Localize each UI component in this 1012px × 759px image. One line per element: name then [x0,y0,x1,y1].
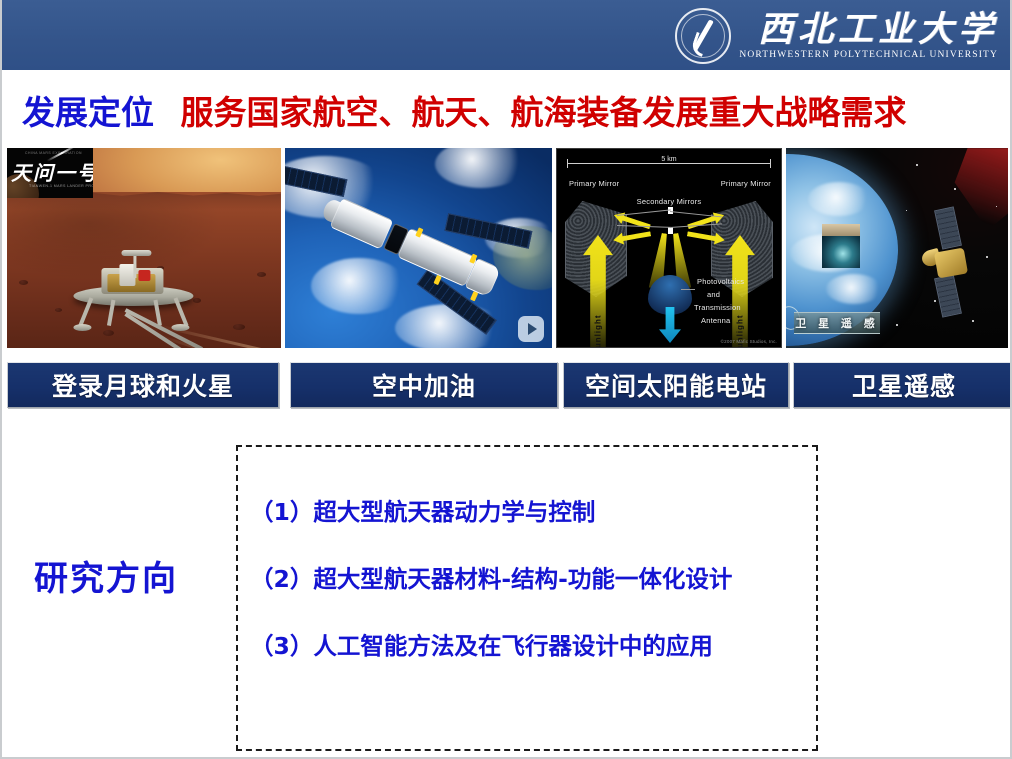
badge-sub-text: TIANWEN-1 MARS LANDER PROBE [29,184,93,188]
label-primary-mirror-left: Primary Mirror [569,179,619,188]
seal-wing-shape-2 [690,32,709,57]
diagram-copyright: ©2007 Mafic Studios, Inc. [721,339,777,344]
play-triangle [528,323,537,335]
station-marker [470,291,478,301]
caption-box-solar-power-station[interactable]: 空间太阳能电站 [563,362,789,408]
logo-text-block: 西北工业大学 NORTHWESTERN POLYTECHNICAL UNIVER… [739,12,998,61]
label-secondary-mirrors: Secondary Mirrors [637,197,702,206]
research-direction-item: （3）人工智能方法及在飞行器设计中的应用 [250,634,810,660]
caption-label: 登录月球和火星 [52,367,234,403]
caption-label: 空中加油 [372,367,476,403]
badge-chinese-text: 天问一号 [11,157,93,186]
play-video-icon[interactable] [518,316,544,342]
space-station-docking-photo[interactable] [285,148,552,348]
scale-bar [567,163,771,164]
label-transmission: Transmission [694,303,741,312]
caption-label: 空间太阳能电站 [585,367,767,403]
lander-foot [73,324,91,331]
mars-lander-craft [67,252,199,330]
header-banner: 西北工业大学 NORTHWESTERN POLYTECHNICAL UNIVER… [2,0,1012,73]
star [972,320,974,322]
remote-sensing-overlay-label: 卫 星 遥 感 [794,312,880,334]
label-sunlight-left: Sunlight [594,315,603,349]
logo-english-name: NORTHWESTERN POLYTECHNICAL UNIVERSITY [739,51,998,61]
mars-rock [257,272,266,277]
cloud [826,274,882,304]
label-primary-mirror-right: Primary Mirror [721,179,771,188]
secondary-mirror [668,227,673,234]
mars-lander-photo[interactable]: CHINA MARS EXPLORATION 天问一号 TIANWEN-1 MA… [7,148,281,348]
label-photovoltaics: Photovoltaics [697,277,744,286]
star [906,210,907,211]
badge-top-text: CHINA MARS EXPLORATION [25,151,82,155]
caption-row: 登录月球和火星 空中加油 空间太阳能电站 卫星遥感 [7,362,1009,410]
title-keyword: 发展定位 [22,96,154,129]
label-antenna: Antenna [701,316,730,325]
research-direction-item: （2）超大型航天器材料-结构-功能一体化设计 [250,567,810,593]
star [986,256,988,258]
lander-foot [171,324,189,331]
caption-label: 卫星遥感 [852,367,956,403]
satellite-solar-panel [934,206,962,249]
nwpu-seal-icon [675,8,731,64]
logo-chinese-name: 西北工业大学 [739,12,998,47]
research-section-label: 研究方向 [34,551,178,600]
research-directions-list: （1）超大型航天器动力学与控制 （2）超大型航天器材料-结构-功能一体化设计 （… [250,500,810,660]
star [896,324,898,326]
station-module [329,198,393,250]
slide-root: 西北工业大学 NORTHWESTERN POLYTECHNICAL UNIVER… [0,0,1012,759]
mars-rock [103,330,114,336]
title-statement: 服务国家航空、航天、航海装备发展重大战略需求 [180,96,906,129]
caption-box-air-refueling[interactable]: 空中加油 [290,362,558,408]
caption-box-moon-mars[interactable]: 登录月球和火星 [7,362,279,408]
slide-title: 发展定位 服务国家航空、航天、航海装备发展重大战略需求 [22,96,1002,129]
sensor-panel-scene [822,236,860,268]
satellite-craft [914,210,986,308]
space-solar-power-station-diagram[interactable]: 5 km Primary Mirror Primary Mirror Secon… [556,148,782,348]
satellite-remote-sensing-photo[interactable]: 卫 星 遥 感 [786,148,1008,348]
ssp-canvas: 5 km Primary Mirror Primary Mirror Secon… [556,148,782,348]
label-and: and [707,290,720,299]
mars-rock [55,308,62,312]
satellite-body [934,248,968,279]
sensor-image-panel [822,224,860,268]
university-logo: 西北工业大学 NORTHWESTERN POLYTECHNICAL UNIVER… [675,4,998,68]
sensor-panel-cap [822,224,860,236]
overlay-text: 卫 星 遥 感 [795,315,879,331]
cloud [808,182,870,216]
image-gallery: CHINA MARS EXPLORATION 天问一号 TIANWEN-1 MA… [7,148,1009,348]
mars-rock [233,324,245,330]
mars-rock [19,280,28,285]
scale-bar-label: 5 km [656,156,681,163]
star [996,206,997,207]
star [916,164,918,166]
research-direction-item: （1）超大型航天器动力学与控制 [250,500,810,526]
lander-red-box [138,270,150,281]
star [954,188,956,190]
caption-box-satellite-remote-sensing[interactable]: 卫星遥感 [793,362,1012,408]
lander-antenna [121,250,151,256]
leader-line [681,289,695,290]
tianwen-overlay-badge: CHINA MARS EXPLORATION 天问一号 TIANWEN-1 MA… [7,148,93,198]
